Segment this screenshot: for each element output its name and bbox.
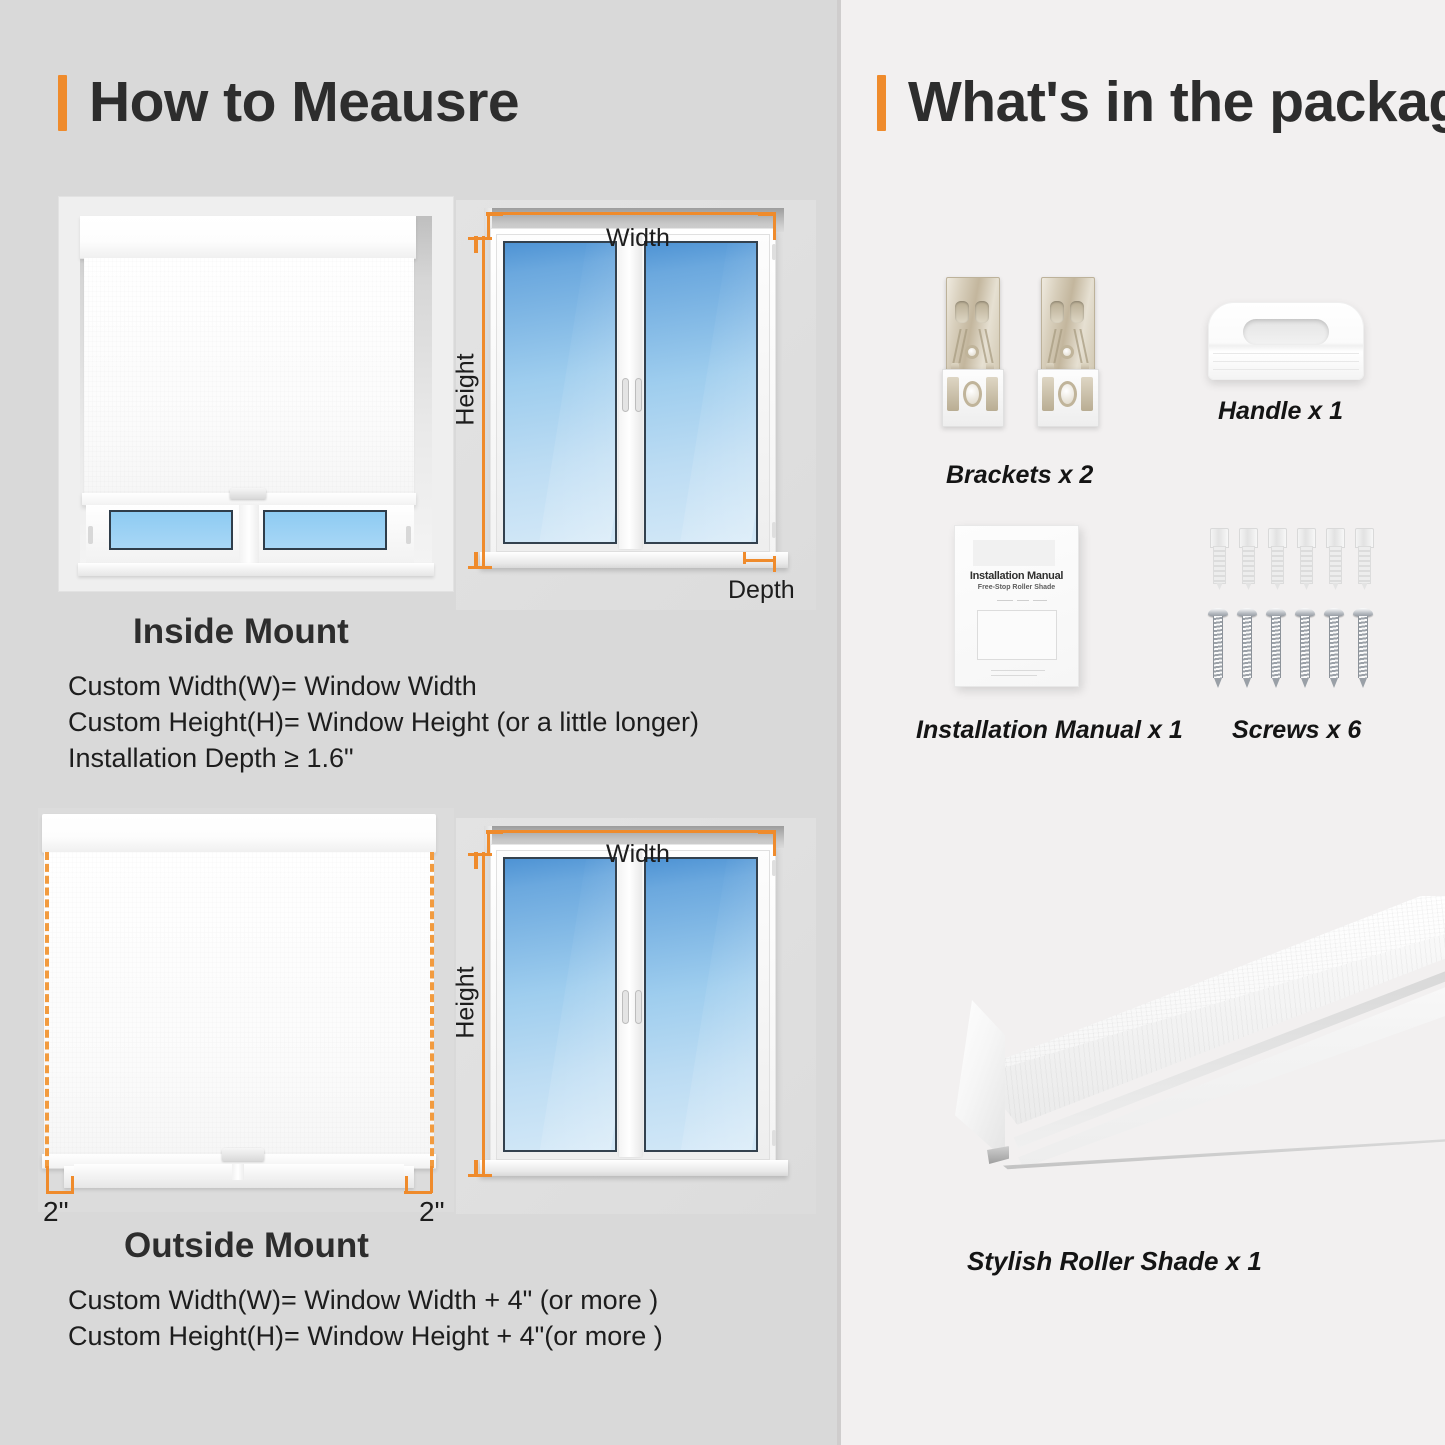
inside-mount-line-3: Installation Depth ≥ 1.6" [68, 743, 354, 774]
manual-cover-subtitle: Free-Stop Roller Shade [955, 584, 1078, 591]
width-measure-line [490, 212, 774, 215]
overhang-guide-right [430, 852, 434, 1168]
height-label: Height [452, 966, 481, 1038]
screw-icon [1266, 608, 1286, 688]
wall-anchor-icon [1268, 528, 1287, 590]
stylish-roller-shade-label: Stylish Roller Shade x 1 [967, 1246, 1262, 1277]
wall-anchor-icon [1326, 528, 1345, 590]
depth-measure-line [744, 559, 776, 562]
installation-manual-label: Installation Manual x 1 [916, 716, 1183, 745]
depth-label: Depth [728, 576, 795, 605]
handle-icon [1208, 302, 1364, 380]
wall-anchor-icon [1239, 528, 1258, 590]
width-label: Width [606, 840, 670, 869]
overhang-label-right: 2" [419, 1196, 445, 1228]
screw-icon [1295, 608, 1315, 688]
wall-anchor-icon [1210, 528, 1229, 590]
screws-label: Screws x 6 [1232, 716, 1361, 745]
width-measure-line [490, 830, 774, 833]
inside-mount-title: Inside Mount [133, 612, 349, 652]
screw-icon [1237, 608, 1257, 688]
outside-mount-line-2: Custom Height(H)= Window Height + 4"(or … [68, 1321, 663, 1352]
height-measure-line [482, 236, 485, 566]
inside-mount-line-1: Custom Width(W)= Window Width [68, 671, 477, 702]
inside-mount-shade-illustration [58, 196, 454, 592]
bracket-icon [942, 277, 1004, 435]
inside-mount-line-2: Custom Height(H)= Window Height (or a li… [68, 707, 699, 738]
overhang-label-left: 2" [43, 1196, 69, 1228]
overhang-guide-left [45, 852, 49, 1168]
screw-icon [1324, 608, 1344, 688]
whats-in-the-package-heading: What's in the package [877, 74, 1445, 131]
handle-label: Handle x 1 [1218, 397, 1343, 426]
height-label: Height [452, 353, 481, 425]
outside-mount-title: Outside Mount [124, 1226, 369, 1266]
bracket-icon [1037, 277, 1099, 435]
outside-mount-shade-illustration [38, 808, 454, 1212]
accent-bar-icon [877, 75, 886, 131]
accent-bar-icon [58, 75, 67, 131]
manual-icon: Installation Manual Free-Stop Roller Sha… [954, 525, 1079, 687]
infographic-page: How to Meausre [0, 0, 1445, 1445]
brackets-label: Brackets x 2 [946, 461, 1093, 490]
how-to-measure-title: How to Meausre [89, 74, 519, 131]
screw-icon [1353, 608, 1373, 688]
whats-in-the-package-panel: What's in the package [841, 0, 1445, 1445]
whats-in-the-package-title: What's in the package [908, 74, 1445, 131]
how-to-measure-panel: How to Meausre [0, 0, 837, 1445]
width-label: Width [606, 224, 670, 253]
height-measure-line [482, 852, 485, 1174]
how-to-measure-heading: How to Meausre [58, 74, 519, 131]
manual-cover-title: Installation Manual [955, 570, 1078, 582]
wall-anchor-icon [1355, 528, 1374, 590]
wall-anchor-icon [1297, 528, 1316, 590]
inside-mount-measure-window: Width Height Depth [456, 200, 816, 610]
screw-icon [1208, 608, 1228, 688]
roller-shade-icon [929, 888, 1445, 1198]
outside-mount-line-1: Custom Width(W)= Window Width + 4" (or m… [68, 1285, 658, 1316]
outside-mount-measure-window: Width Height [456, 818, 816, 1214]
